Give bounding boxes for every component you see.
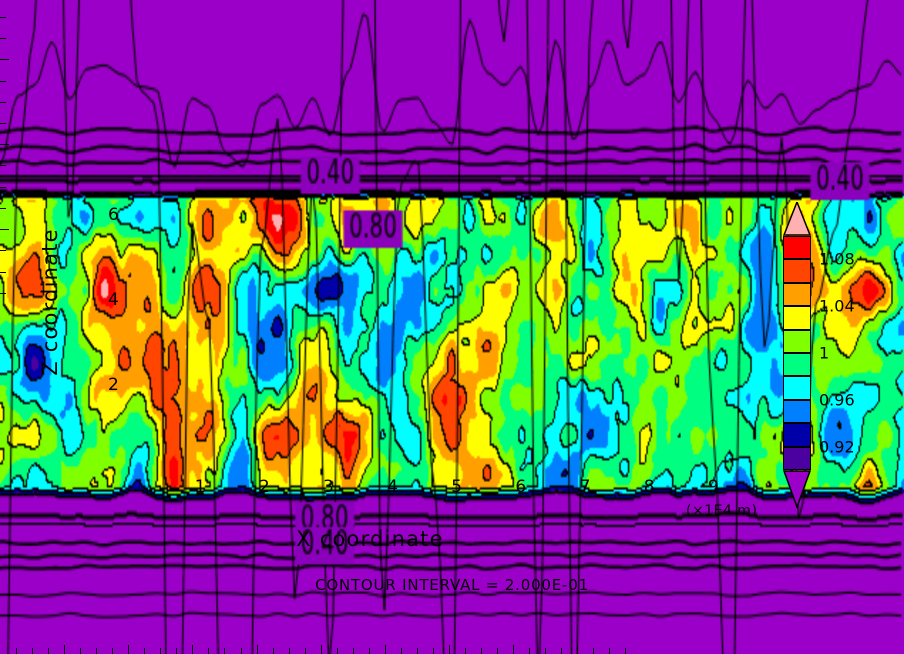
y-tick bbox=[0, 229, 9, 230]
x-tick-label: 4 bbox=[387, 477, 398, 497]
x-axis-unit-label: (×1E4 m) bbox=[686, 503, 757, 519]
y-tick-minor bbox=[0, 293, 6, 294]
colorbar-tick-label: 0.92 bbox=[819, 437, 855, 456]
x-tick-label: 7 bbox=[580, 477, 591, 497]
y-tick-label: 6 bbox=[108, 205, 119, 225]
y-tick-minor bbox=[0, 165, 6, 166]
y-tick-minor bbox=[0, 250, 6, 251]
colorbar-band bbox=[783, 400, 811, 423]
x-tick-label: 3 bbox=[323, 477, 334, 497]
colorbar-tick-label: 0.96 bbox=[819, 390, 855, 409]
y-tick bbox=[0, 144, 9, 145]
x-tick-label: 6 bbox=[515, 477, 526, 497]
colorbar-band bbox=[783, 447, 811, 470]
colorbar-tick-label: 1 bbox=[819, 344, 829, 363]
contour-interval-caption: CONTOUR INTERVAL = 2.000E-01 bbox=[0, 576, 904, 594]
x-tick-label: 2 bbox=[259, 477, 270, 497]
contour-plot-panel bbox=[0, 0, 635, 314]
colorbar-band bbox=[783, 283, 811, 306]
colorbar-band bbox=[783, 376, 811, 399]
y-tick-minor bbox=[0, 272, 6, 273]
y-tick-minor bbox=[0, 208, 6, 209]
colorbar-tick-label: 1.04 bbox=[819, 297, 855, 316]
y-tick bbox=[0, 59, 9, 60]
colorbar-low-arrow bbox=[783, 470, 811, 508]
y-axis-title: Z coordinate bbox=[38, 222, 62, 382]
colorbar-band bbox=[783, 353, 811, 376]
x-tick-label: 8 bbox=[644, 477, 655, 497]
colorbar-band bbox=[783, 306, 811, 329]
y-tick-minor bbox=[0, 38, 6, 39]
colorbar-band bbox=[783, 423, 811, 446]
y-tick-label: 2 bbox=[108, 375, 119, 395]
colorbar-band bbox=[783, 330, 811, 353]
y-tick-minor bbox=[0, 17, 6, 18]
colorbar-high-arrow bbox=[783, 202, 811, 236]
colorbar: 1.081.0410.960.92 bbox=[783, 200, 904, 520]
x-tick-label: 5 bbox=[451, 477, 462, 497]
y-tick-minor bbox=[0, 81, 6, 82]
y-tick-minor bbox=[0, 123, 6, 124]
x-tick-label: 1 bbox=[195, 477, 206, 497]
colorbar-band bbox=[783, 236, 811, 259]
x-axis-title: X coordinate bbox=[0, 527, 740, 551]
x-tick-label: 9 bbox=[708, 477, 719, 497]
y-tick-minor bbox=[0, 102, 6, 103]
y-tick-label: 4 bbox=[108, 290, 119, 310]
y-tick-minor bbox=[0, 187, 6, 188]
colorbar-tick-label: 1.08 bbox=[819, 250, 855, 269]
colorbar-band bbox=[783, 259, 811, 282]
saturation-ratio-field bbox=[0, 0, 635, 314]
